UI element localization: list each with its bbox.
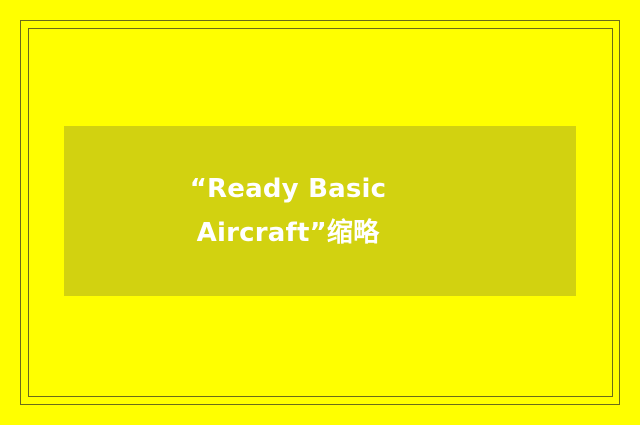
headline-container: “Ready Basic Aircraft”缩略	[173, 167, 403, 255]
headline-banner-panel: “Ready Basic Aircraft”缩略	[64, 126, 576, 296]
page-title: “Ready Basic Aircraft”缩略	[173, 167, 403, 255]
page-canvas: “Ready Basic Aircraft”缩略	[0, 0, 640, 425]
